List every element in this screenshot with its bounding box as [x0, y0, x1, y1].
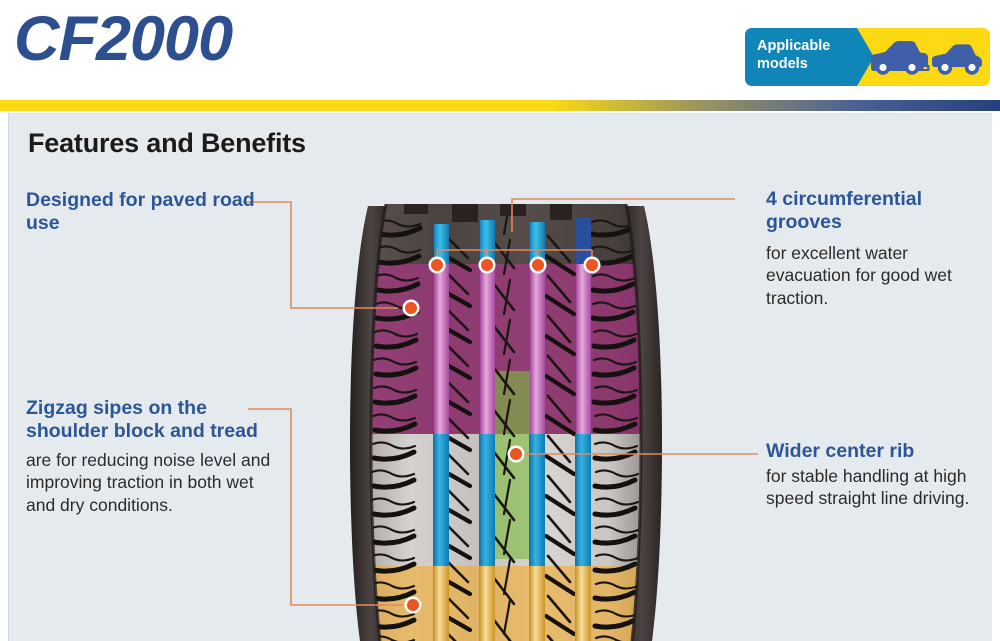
- vehicle-icons-group: [867, 36, 985, 80]
- suv-front-hub-icon: [879, 64, 886, 71]
- callout-wider-center-rib: Wider center rib for stable handling at …: [766, 440, 981, 510]
- callout-heading: 4 circumferential grooves: [766, 188, 981, 234]
- callout-body: for stable handling at high speed straig…: [766, 465, 981, 510]
- page-header: CF2000 Applicable models: [0, 0, 1000, 100]
- pickup-front-hub-icon: [941, 64, 948, 71]
- page-title: CF2000: [14, 8, 232, 71]
- callout-heading: Zigzag sipes on the shoulder block and t…: [26, 397, 271, 443]
- applicable-models-badge: Applicable models: [745, 28, 990, 86]
- pickup-rear-hub-icon: [968, 64, 975, 71]
- section-title: Features and Benefits: [28, 128, 306, 159]
- tread-surface: [334, 196, 678, 641]
- groove-2: [479, 220, 495, 641]
- callout-zigzag-sipes: Zigzag sipes on the shoulder block and t…: [26, 397, 271, 516]
- callout-heading: Wider center rib: [766, 440, 981, 463]
- header-gradient-divider: [0, 100, 1000, 111]
- suv-rear-hub-icon: [908, 64, 915, 71]
- tire-tread-illustration: [334, 196, 678, 641]
- badge-blue-tag: Applicable models: [745, 28, 857, 86]
- tire-svg: [334, 196, 678, 641]
- callout-body: are for reducing noise level and improvi…: [26, 449, 271, 516]
- callout-body: for excellent water evacuation for good …: [766, 242, 981, 309]
- badge-tag-label: Applicable models: [757, 38, 855, 73]
- callout-circumferential-grooves: 4 circumferential grooves for excellent …: [766, 188, 981, 309]
- callout-heading: Designed for paved road use: [26, 189, 256, 235]
- groove-4: [575, 218, 591, 641]
- groove-1: [433, 224, 449, 641]
- callout-designed-for-paved-road-use: Designed for paved road use: [26, 189, 256, 239]
- infographic-page: CF2000 Applicable models: [0, 0, 1000, 641]
- groove-3: [529, 222, 545, 641]
